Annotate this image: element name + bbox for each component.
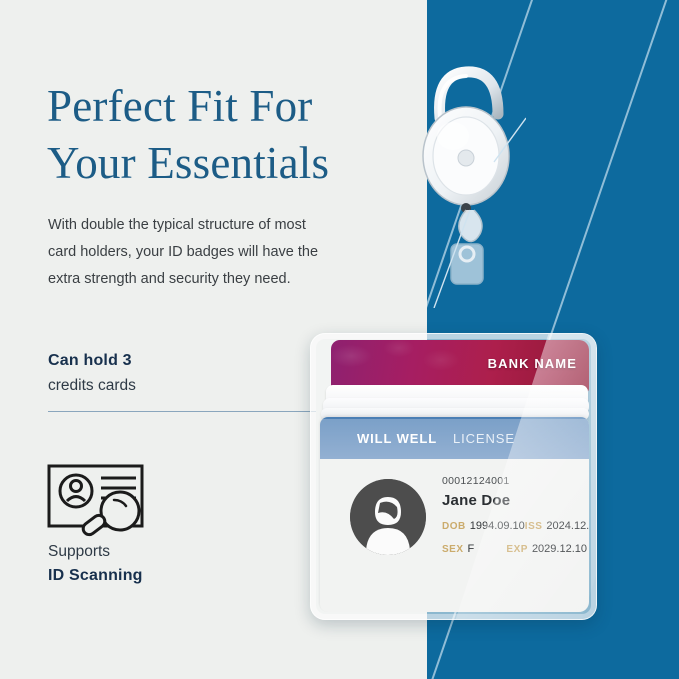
license-holder-name: Jane Doe bbox=[442, 492, 587, 509]
headline-line-1: Perfect Fit For bbox=[47, 78, 387, 135]
card-holder-sleeve: BANK NAME WILL WELL LICENSE bbox=[310, 333, 597, 620]
license-type: LICENSE bbox=[453, 431, 515, 446]
field-label: DOB bbox=[442, 521, 466, 532]
divider-rule bbox=[48, 411, 316, 412]
license-field-exp: EXP 2029.12.10 bbox=[506, 543, 587, 555]
license-issuer: WILL WELL bbox=[357, 431, 437, 446]
license-header-band: WILL WELL LICENSE bbox=[320, 417, 589, 459]
feature-capacity-title: Can hold 3 bbox=[48, 352, 318, 370]
license-field-dob: DOB 1994.09.10 bbox=[442, 520, 525, 532]
feature-scanning-title: Supports bbox=[48, 543, 143, 561]
body-paragraph: With double the typical structure of mos… bbox=[48, 212, 320, 293]
bank-card-name: BANK NAME bbox=[488, 356, 577, 371]
license-field-sex: SEX F bbox=[442, 543, 506, 555]
field-label: ISS bbox=[525, 521, 543, 532]
field-label: SEX bbox=[442, 544, 464, 555]
feature-capacity: Can hold 3 credits cards bbox=[48, 352, 318, 395]
field-value: 2029.12.10 bbox=[532, 543, 587, 555]
field-label: EXP bbox=[506, 544, 528, 555]
product-feature-graphic: Perfect Fit For Your Essentials With dou… bbox=[0, 0, 679, 679]
headline-line-2: Your Essentials bbox=[47, 135, 387, 192]
license-id-number: 00012124001 bbox=[442, 475, 587, 487]
field-value: 2024.12.10 bbox=[546, 520, 589, 532]
license-details: 00012124001 Jane Doe DOB 1994.09.10 ISS … bbox=[442, 475, 587, 555]
person-avatar-icon bbox=[350, 479, 426, 555]
license-field-iss: ISS 2024.12.10 bbox=[525, 520, 589, 532]
field-value: 1994.09.10 bbox=[470, 520, 525, 532]
license-field-row: SEX F EXP 2029.12.10 bbox=[442, 543, 587, 555]
field-value: F bbox=[468, 543, 475, 555]
feature-scanning: Supports ID Scanning bbox=[48, 543, 143, 585]
license-field-row: DOB 1994.09.10 ISS 2024.12.10 bbox=[442, 520, 587, 532]
feature-scanning-subtitle: ID Scanning bbox=[48, 567, 143, 585]
id-card-scan-icon bbox=[46, 462, 158, 540]
retractable-badge-reel-icon bbox=[406, 58, 526, 308]
feature-capacity-subtitle: credits cards bbox=[48, 377, 318, 395]
license-card: WILL WELL LICENSE 00012124001 Jane Doe bbox=[320, 417, 589, 612]
page-title: Perfect Fit For Your Essentials bbox=[47, 78, 387, 191]
